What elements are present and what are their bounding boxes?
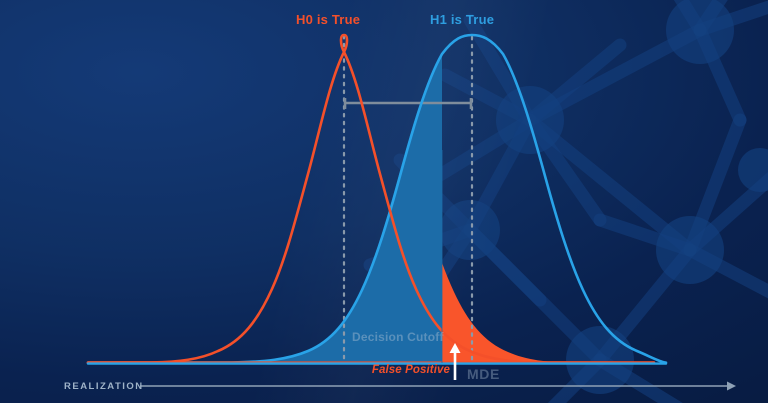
h1-label: H1 is True — [430, 12, 494, 27]
h0-label: H0 is True — [296, 12, 360, 27]
realization-axis-label: REALIZATION — [64, 381, 144, 392]
chart-canvas: H0 is True H1 is True Decision Cutoff Fa… — [0, 0, 768, 403]
h1-power-fill — [88, 36, 668, 363]
false-positive-label: False Positive — [350, 364, 450, 376]
decision-cutoff-label: Decision Cutoff — [352, 330, 444, 344]
mde-label: MDE — [467, 366, 500, 382]
x-axis-arrow — [140, 382, 736, 391]
